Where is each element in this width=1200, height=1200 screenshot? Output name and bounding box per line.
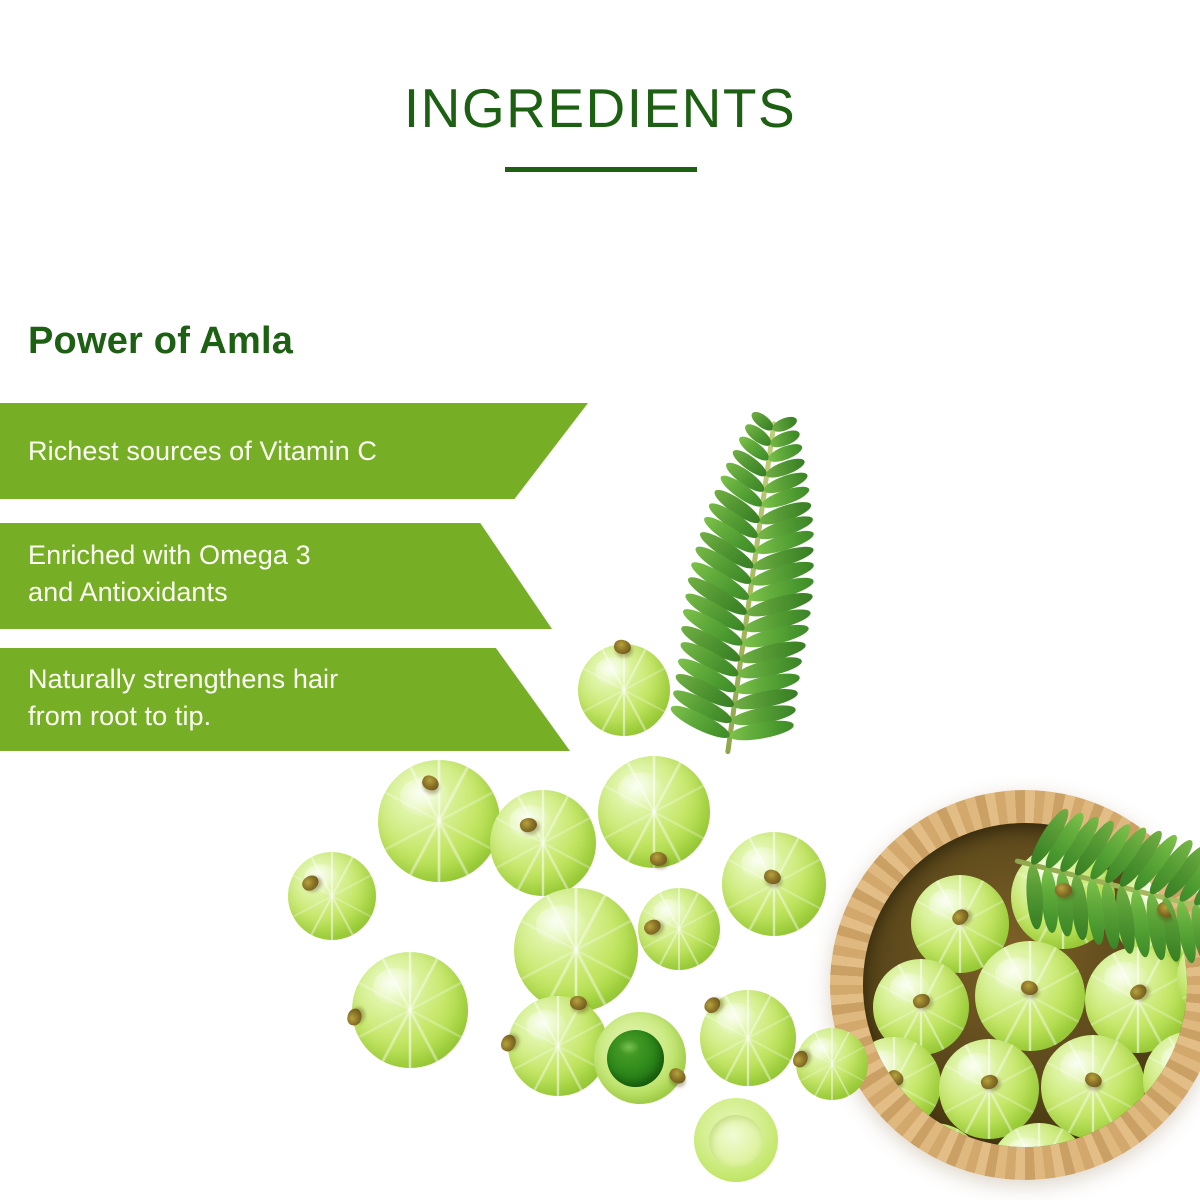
leaflet	[680, 604, 747, 651]
benefit-banner-2-label: Enriched with Omega 3 and Antioxidants	[28, 537, 311, 615]
leaflet	[760, 483, 812, 513]
leaflet	[1070, 817, 1119, 880]
bowl-amla-fruit	[1011, 845, 1115, 949]
leaflet	[1099, 882, 1123, 951]
leaflet	[734, 669, 801, 697]
leaflet	[692, 541, 756, 589]
leaflet	[723, 458, 768, 496]
leaflet	[1188, 903, 1200, 965]
benefit-banner-2: Enriched with Omega 3 and Antioxidants	[0, 523, 552, 629]
leaflet	[675, 653, 740, 697]
amla-stem	[613, 639, 632, 655]
leaflet	[1113, 885, 1138, 954]
leaflet	[748, 408, 776, 434]
bowl-amla-fruit	[975, 941, 1085, 1051]
leaflet	[706, 498, 762, 542]
amla-stem	[791, 1049, 810, 1070]
amla-fruit-2	[378, 760, 500, 882]
amla-stem	[650, 852, 667, 866]
bowl-amla-stem	[1182, 1063, 1187, 1084]
leaflet	[755, 512, 814, 544]
leaflet	[1144, 836, 1197, 899]
amla-hollow-core	[709, 1115, 763, 1167]
leaflet	[766, 441, 804, 466]
bowl-interior	[863, 823, 1187, 1147]
leaflet	[1026, 805, 1074, 868]
bowl-amla-stem	[1054, 881, 1073, 897]
leaflet	[735, 433, 772, 465]
leaflet	[668, 701, 733, 743]
amla-stem	[642, 916, 664, 937]
amla-fruit-1	[578, 644, 670, 736]
bowl-amla-fruit	[1095, 1119, 1187, 1147]
leaflet	[1174, 847, 1200, 906]
leaflet	[739, 637, 807, 667]
leaflet	[717, 471, 766, 511]
leaflet	[1115, 827, 1168, 891]
leaflet	[742, 421, 774, 450]
leaflet	[1128, 889, 1154, 958]
bowl-amla-fruit	[939, 1039, 1039, 1139]
leaflet	[688, 556, 753, 604]
bowl-amla-fruit	[863, 1037, 941, 1131]
amla-fruit-4	[598, 756, 710, 868]
leaflet	[745, 588, 815, 621]
amla-stem	[519, 816, 539, 834]
amla-fruit-5	[288, 852, 376, 940]
amla-stem	[499, 1033, 518, 1054]
amla-seed	[607, 1030, 664, 1087]
bowl-amla-stem	[911, 991, 932, 1011]
amla-cut-fruit	[594, 1012, 686, 1104]
leaflet	[1025, 864, 1045, 930]
bowl-amla-stem	[1155, 900, 1177, 920]
bowl-amla-stem	[1127, 981, 1149, 1003]
amla-fruit-10	[508, 996, 608, 1096]
bowl-amla-fruit	[911, 875, 1009, 973]
leaf-rachis	[725, 421, 777, 754]
leaflet	[753, 527, 816, 559]
amla-leaf-upright	[724, 421, 777, 755]
amla-stem	[299, 872, 321, 894]
title-underline	[505, 167, 697, 172]
leaflet	[678, 620, 744, 666]
bowl-amla-fruit	[1041, 1035, 1145, 1139]
leaflet	[732, 685, 799, 713]
leaflet	[1189, 854, 1200, 910]
leaflet	[1069, 875, 1091, 941]
page-title: INGREDIENTS	[0, 78, 1200, 138]
bowl-amla-fruit	[1183, 1105, 1187, 1147]
leaflet	[757, 497, 813, 528]
bowl-amla-fruit	[989, 1123, 1089, 1147]
leaflet	[728, 717, 795, 744]
amla-stem	[702, 994, 724, 1016]
amla-leaf-horizontal	[1014, 857, 1200, 935]
leaflet	[1041, 809, 1089, 872]
amla-stem	[346, 1007, 363, 1026]
leaflet	[736, 653, 803, 682]
leaflet	[1100, 823, 1152, 887]
leaflet	[1158, 896, 1185, 963]
leaflet	[749, 557, 816, 590]
leaf-rachis	[1014, 858, 1200, 935]
amla-fruit-9	[352, 952, 468, 1068]
amla-stem	[570, 995, 588, 1010]
leaflet	[670, 685, 735, 728]
bowl-amla-stem	[1083, 1070, 1103, 1089]
benefit-banner-3: Naturally strengthens hair from root to …	[0, 648, 570, 751]
amla-fruit-6	[722, 832, 826, 936]
amla-stem	[667, 1066, 689, 1087]
leaflet	[711, 485, 764, 528]
leaflet	[1143, 893, 1169, 962]
leaflet	[682, 588, 749, 636]
leaflet	[685, 572, 751, 620]
bowl-amla-stem	[979, 1073, 1000, 1092]
leaflet	[751, 542, 816, 575]
bowl-amla-fruit	[1085, 947, 1187, 1053]
amla-fruit-3	[490, 790, 596, 896]
leaflet	[700, 512, 759, 558]
bowl-amla-fruit	[1115, 867, 1187, 967]
leaflet	[1173, 900, 1200, 965]
amla-stem	[420, 773, 441, 793]
leaflet	[1159, 841, 1200, 902]
bowl-amla-fruit	[873, 959, 969, 1055]
amla-stem	[763, 868, 783, 886]
leaflet	[672, 669, 737, 713]
leaflet	[762, 469, 810, 497]
bowl-amla-fruit	[1143, 1031, 1187, 1129]
bowl-amla-stem	[950, 906, 972, 928]
leaflet	[696, 527, 758, 574]
wooden-bowl	[830, 790, 1200, 1180]
leaflet	[741, 621, 810, 652]
benefit-banner-1-label: Richest sources of Vitamin C	[28, 433, 377, 470]
amla-fruit-11	[700, 990, 796, 1086]
amla-fruit-7	[638, 888, 720, 970]
leaflet	[747, 573, 816, 606]
ingredients-infographic: INGREDIENTS Power of Amla Richest source…	[0, 0, 1200, 1200]
section-heading: Power of Amla	[28, 318, 293, 364]
benefit-banner-1: Richest sources of Vitamin C	[0, 403, 588, 499]
leaflet	[770, 414, 799, 435]
leaflet	[729, 446, 770, 481]
leaflet	[768, 427, 802, 450]
leaflet	[1040, 867, 1061, 933]
bowl-amla-stem	[1020, 979, 1040, 996]
leaflet	[1130, 831, 1183, 895]
leaflet	[1054, 871, 1075, 937]
leaflet	[730, 701, 797, 728]
leaflet	[764, 455, 807, 482]
leaflet	[1056, 813, 1105, 876]
benefit-banner-3-label: Naturally strengthens hair from root to …	[28, 661, 338, 739]
leaflet	[1085, 821, 1135, 884]
bowl-amla-stem	[884, 1067, 906, 1088]
leaflet	[743, 604, 813, 636]
amla-fruit-12	[796, 1028, 868, 1100]
leaflet	[677, 637, 742, 682]
leaflet	[1084, 878, 1107, 945]
bowl-amla-fruit	[1177, 931, 1187, 1023]
amla-hollow-fruit	[694, 1098, 778, 1182]
bowl-amla-fruit	[883, 1123, 985, 1147]
amla-fruit-8	[514, 888, 638, 1012]
